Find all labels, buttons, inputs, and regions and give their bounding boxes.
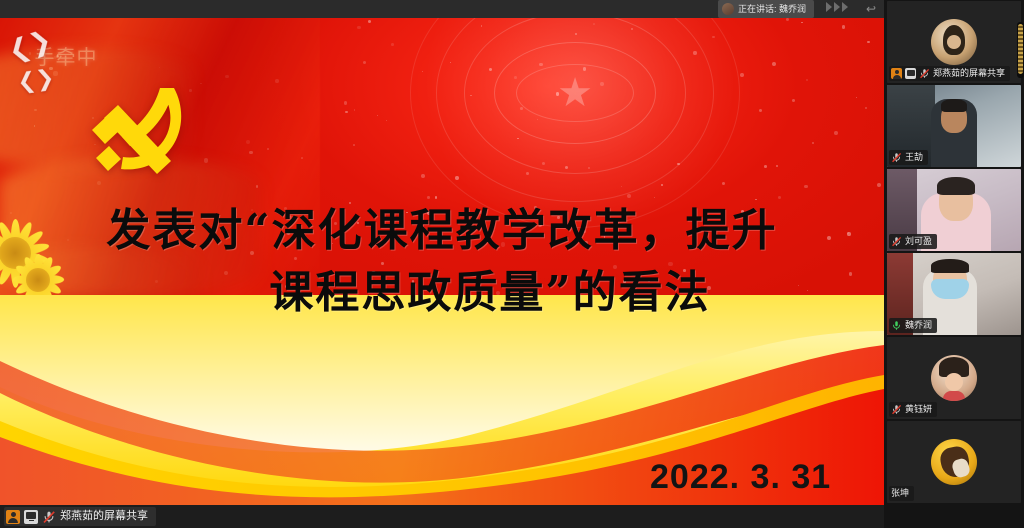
mic-muted-icon: [891, 152, 902, 163]
screen-share-chip[interactable]: 郑燕茹的屏幕共享: [4, 507, 156, 526]
participant-name: 刘可盈: [905, 234, 932, 249]
dove-icon: ❮❯: [16, 64, 56, 95]
screen-share-icon: [905, 68, 916, 79]
participant-tile[interactable]: 王劼: [887, 85, 1021, 167]
participant-tile[interactable]: 刘可盈: [887, 169, 1021, 251]
participant-tile-active-speaker[interactable]: 魏乔润: [887, 253, 1021, 335]
participant-tile[interactable]: 郑燕茹的屏幕共享: [887, 1, 1021, 83]
person-icon: [891, 68, 902, 79]
leave-arrow-icon[interactable]: ↩: [866, 3, 876, 15]
person-icon: [6, 510, 20, 524]
shared-screen-slide: ★ 手牵中 ❮❯ ❮❯: [0, 18, 884, 505]
participant-tile[interactable]: 黄钰妍: [887, 337, 1021, 419]
participant-name: 张坤: [891, 486, 909, 501]
screen-share-icon: [24, 510, 38, 524]
screen-share-label: 郑燕茹的屏幕共享: [60, 507, 148, 526]
expand-arrows-icon[interactable]: [826, 2, 848, 12]
participant-name-chip: 魏乔润: [889, 318, 937, 333]
scrollbar-thumb[interactable]: [1018, 24, 1023, 74]
mic-muted-icon: [891, 236, 902, 247]
active-speaker-avatar: [722, 3, 734, 15]
avatar: [931, 439, 977, 485]
participant-name-chip: 黄钰妍: [889, 402, 937, 417]
mic-muted-icon: [891, 404, 902, 415]
rail-bottom-padding: [884, 510, 1024, 528]
slide-title-line-1: 发表对“深化课程教学改革，提升: [0, 200, 884, 262]
screen-share-status-bar: 郑燕茹的屏幕共享: [0, 505, 884, 528]
emblem-star-icon: ★: [557, 73, 593, 113]
slide-title-line-2: 课程思政质量”的看法: [0, 262, 884, 324]
active-speaker-bar: 正在讲话: 魏乔润 ↩: [0, 0, 884, 18]
slide-date: 2022. 3. 31: [650, 458, 831, 497]
active-speaker-chip: 正在讲话: 魏乔润: [718, 0, 814, 18]
mic-muted-icon: [919, 68, 930, 79]
active-speaker-label: 正在讲话: 魏乔润: [738, 0, 806, 18]
participant-name-chip: 刘可盈: [889, 234, 937, 249]
participant-rail-scrollbar[interactable]: [1017, 22, 1024, 78]
participant-tile[interactable]: 张坤: [887, 421, 1021, 503]
meeting-window: 正在讲话: 魏乔润 ↩ ★ 手牵中 ❮❯ ❮❯: [0, 0, 1024, 528]
participant-name: 魏乔润: [905, 318, 932, 333]
radial-emblem: ★: [410, 18, 740, 228]
participant-name: 郑燕茹的屏幕共享: [933, 66, 1005, 81]
mic-muted-icon: [42, 510, 56, 524]
participant-name: 王劼: [905, 150, 923, 165]
participant-name: 黄钰妍: [905, 402, 932, 417]
participant-name-chip: 王劼: [889, 150, 928, 165]
participant-name-chip: 郑燕茹的屏幕共享: [889, 66, 1010, 81]
participant-name-chip: 张坤: [889, 486, 914, 501]
participant-rail[interactable]: 郑燕茹的屏幕共享 王劼: [884, 0, 1024, 528]
avatar: [931, 355, 977, 401]
avatar: [931, 19, 977, 65]
mic-on-icon: [891, 320, 902, 331]
hammer-and-sickle-icon: [78, 80, 198, 198]
slide-title: 发表对“深化课程教学改革，提升 课程思政质量”的看法: [0, 200, 884, 324]
